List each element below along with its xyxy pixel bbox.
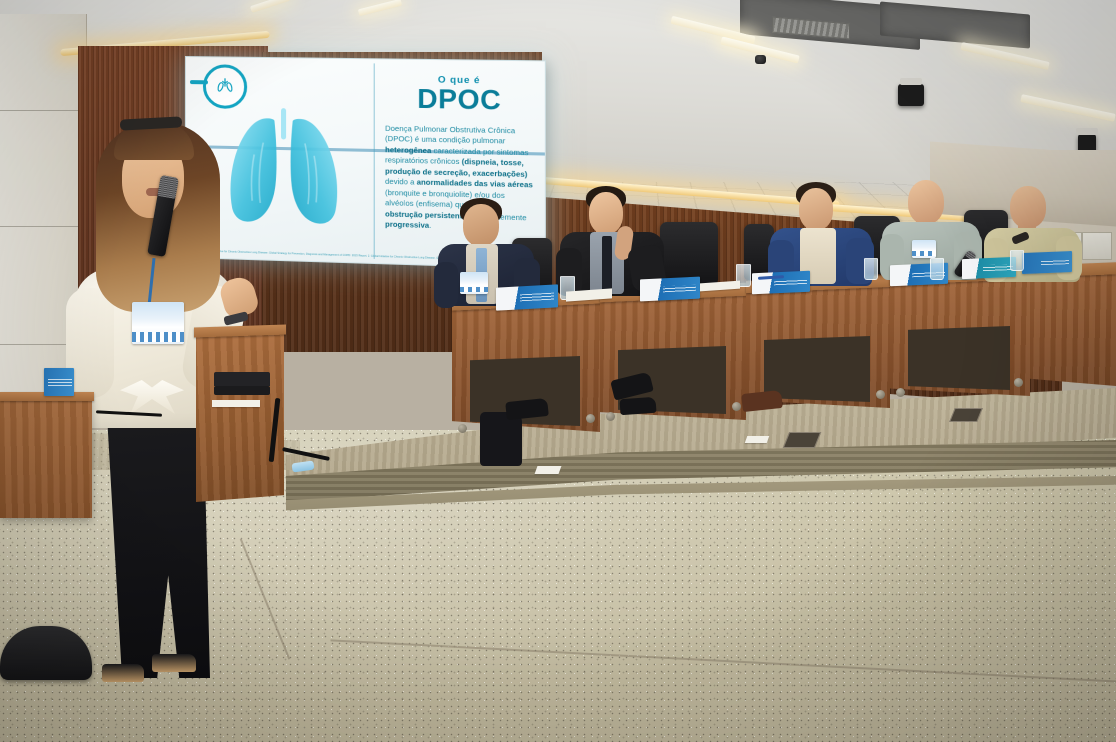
desk-caster — [1014, 378, 1023, 387]
lanyard-badge — [460, 272, 488, 294]
nameplate-2 — [640, 277, 700, 302]
head — [463, 204, 499, 246]
ceiling-light-1 — [250, 0, 290, 13]
podium — [196, 330, 284, 502]
nameplate-5 — [962, 257, 1016, 279]
paper-on-floor-1 — [535, 466, 562, 474]
slide-divider — [374, 63, 375, 259]
desk-caster — [896, 388, 905, 397]
ceiling-camera-icon — [898, 84, 924, 106]
paper-on-floor-2 — [745, 436, 770, 443]
head-bald — [1010, 186, 1046, 228]
panel-desk-recess-3 — [764, 336, 870, 402]
panel-desk-recess-4 — [908, 326, 1010, 390]
laptop[interactable] — [214, 386, 270, 395]
laptop-bag — [480, 412, 522, 466]
nameplate-6 — [1022, 251, 1072, 274]
desk-caster — [732, 402, 741, 411]
trousers — [100, 408, 210, 678]
tie — [602, 236, 612, 292]
nameplate-1 — [496, 284, 558, 310]
head-bald — [908, 180, 944, 224]
arm-left — [434, 262, 458, 308]
nameplate-on-cabinet — [44, 368, 74, 396]
lungs-circle-icon — [203, 64, 247, 109]
desk-caster — [586, 414, 595, 423]
paper-on-podium[interactable] — [212, 400, 260, 407]
nameplate-3 — [752, 271, 810, 295]
desk-caster — [876, 390, 885, 399]
lanyard-badge — [912, 240, 936, 258]
shoe-right — [152, 654, 196, 672]
water-glass-4[interactable] — [930, 258, 944, 280]
ceiling-light-6 — [1020, 94, 1116, 122]
ceiling-sprinkler-icon — [755, 55, 766, 64]
panel-desk-5 — [1030, 266, 1116, 386]
desk-caster — [458, 424, 467, 433]
floor-power-box-2 — [949, 408, 983, 422]
side-cabinet-left — [0, 396, 92, 518]
water-glass-3[interactable] — [864, 258, 878, 280]
conference-room-scene: O que é DPOC Doença Pulmonar Obstrutiva … — [0, 0, 1116, 742]
ceiling-light-2 — [358, 0, 402, 16]
panelist-3 — [768, 182, 878, 286]
water-glass-5[interactable] — [1010, 250, 1024, 271]
head — [799, 188, 833, 230]
speaker-badge — [132, 302, 184, 344]
desk-caster — [606, 412, 615, 421]
slide-title: DPOC — [385, 86, 534, 115]
floor-power-box-1 — [783, 432, 821, 448]
head — [589, 192, 623, 234]
shoe-left — [102, 664, 144, 682]
panelist-shoe-3 — [619, 397, 656, 415]
